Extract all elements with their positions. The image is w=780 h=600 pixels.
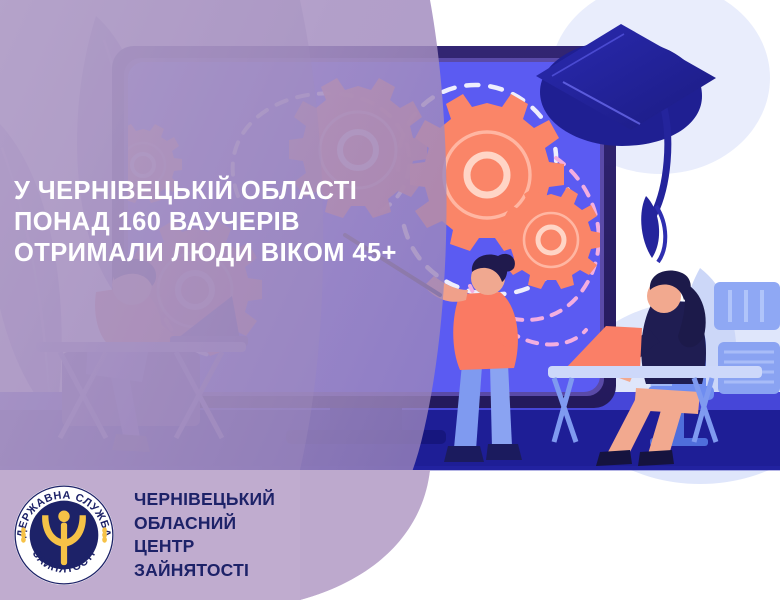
employment-service-emblem: ДЕРЖАВНА СЛУЖБА ЗАЙНЯТОСТІ [12,483,116,587]
right-shoe-a [596,450,632,466]
center-shoe-left [444,446,484,462]
org-name-line-2: ОБЛАСНИЙ [134,512,275,536]
org-name-line-4: ЗАЙНЯТОСТІ [134,559,275,583]
org-name-line-1: ЧЕРНІВЕЦЬКИЙ [134,488,275,512]
footer-logo-lockup: ДЕРЖАВНА СЛУЖБА ЗАЙНЯТОСТІ [0,470,780,600]
desk-right-top [548,366,762,378]
org-name-line-3: ЦЕНТР [134,535,275,559]
poster-canvas: У ЧЕРНІВЕЦЬКІЙ ОБЛАСТІ ПОНАД 160 ВАУЧЕРІ… [0,0,780,600]
right-shoe-b [638,450,674,466]
headline-line-3: ОТРИМАЛИ ЛЮДИ ВІКОМ 45+ [14,238,484,269]
headline: У ЧЕРНІВЕЦЬКІЙ ОБЛАСТІ ПОНАД 160 ВАУЧЕРІ… [14,176,484,269]
headline-line-2: ПОНАД 160 ВАУЧЕРІВ [14,207,484,238]
organization-name: ЧЕРНІВЕЦЬКИЙ ОБЛАСНИЙ ЦЕНТР ЗАЙНЯТОСТІ [134,488,275,582]
headline-line-1: У ЧЕРНІВЕЦЬКІЙ ОБЛАСТІ [14,176,484,207]
center-shoe-right [486,444,522,460]
